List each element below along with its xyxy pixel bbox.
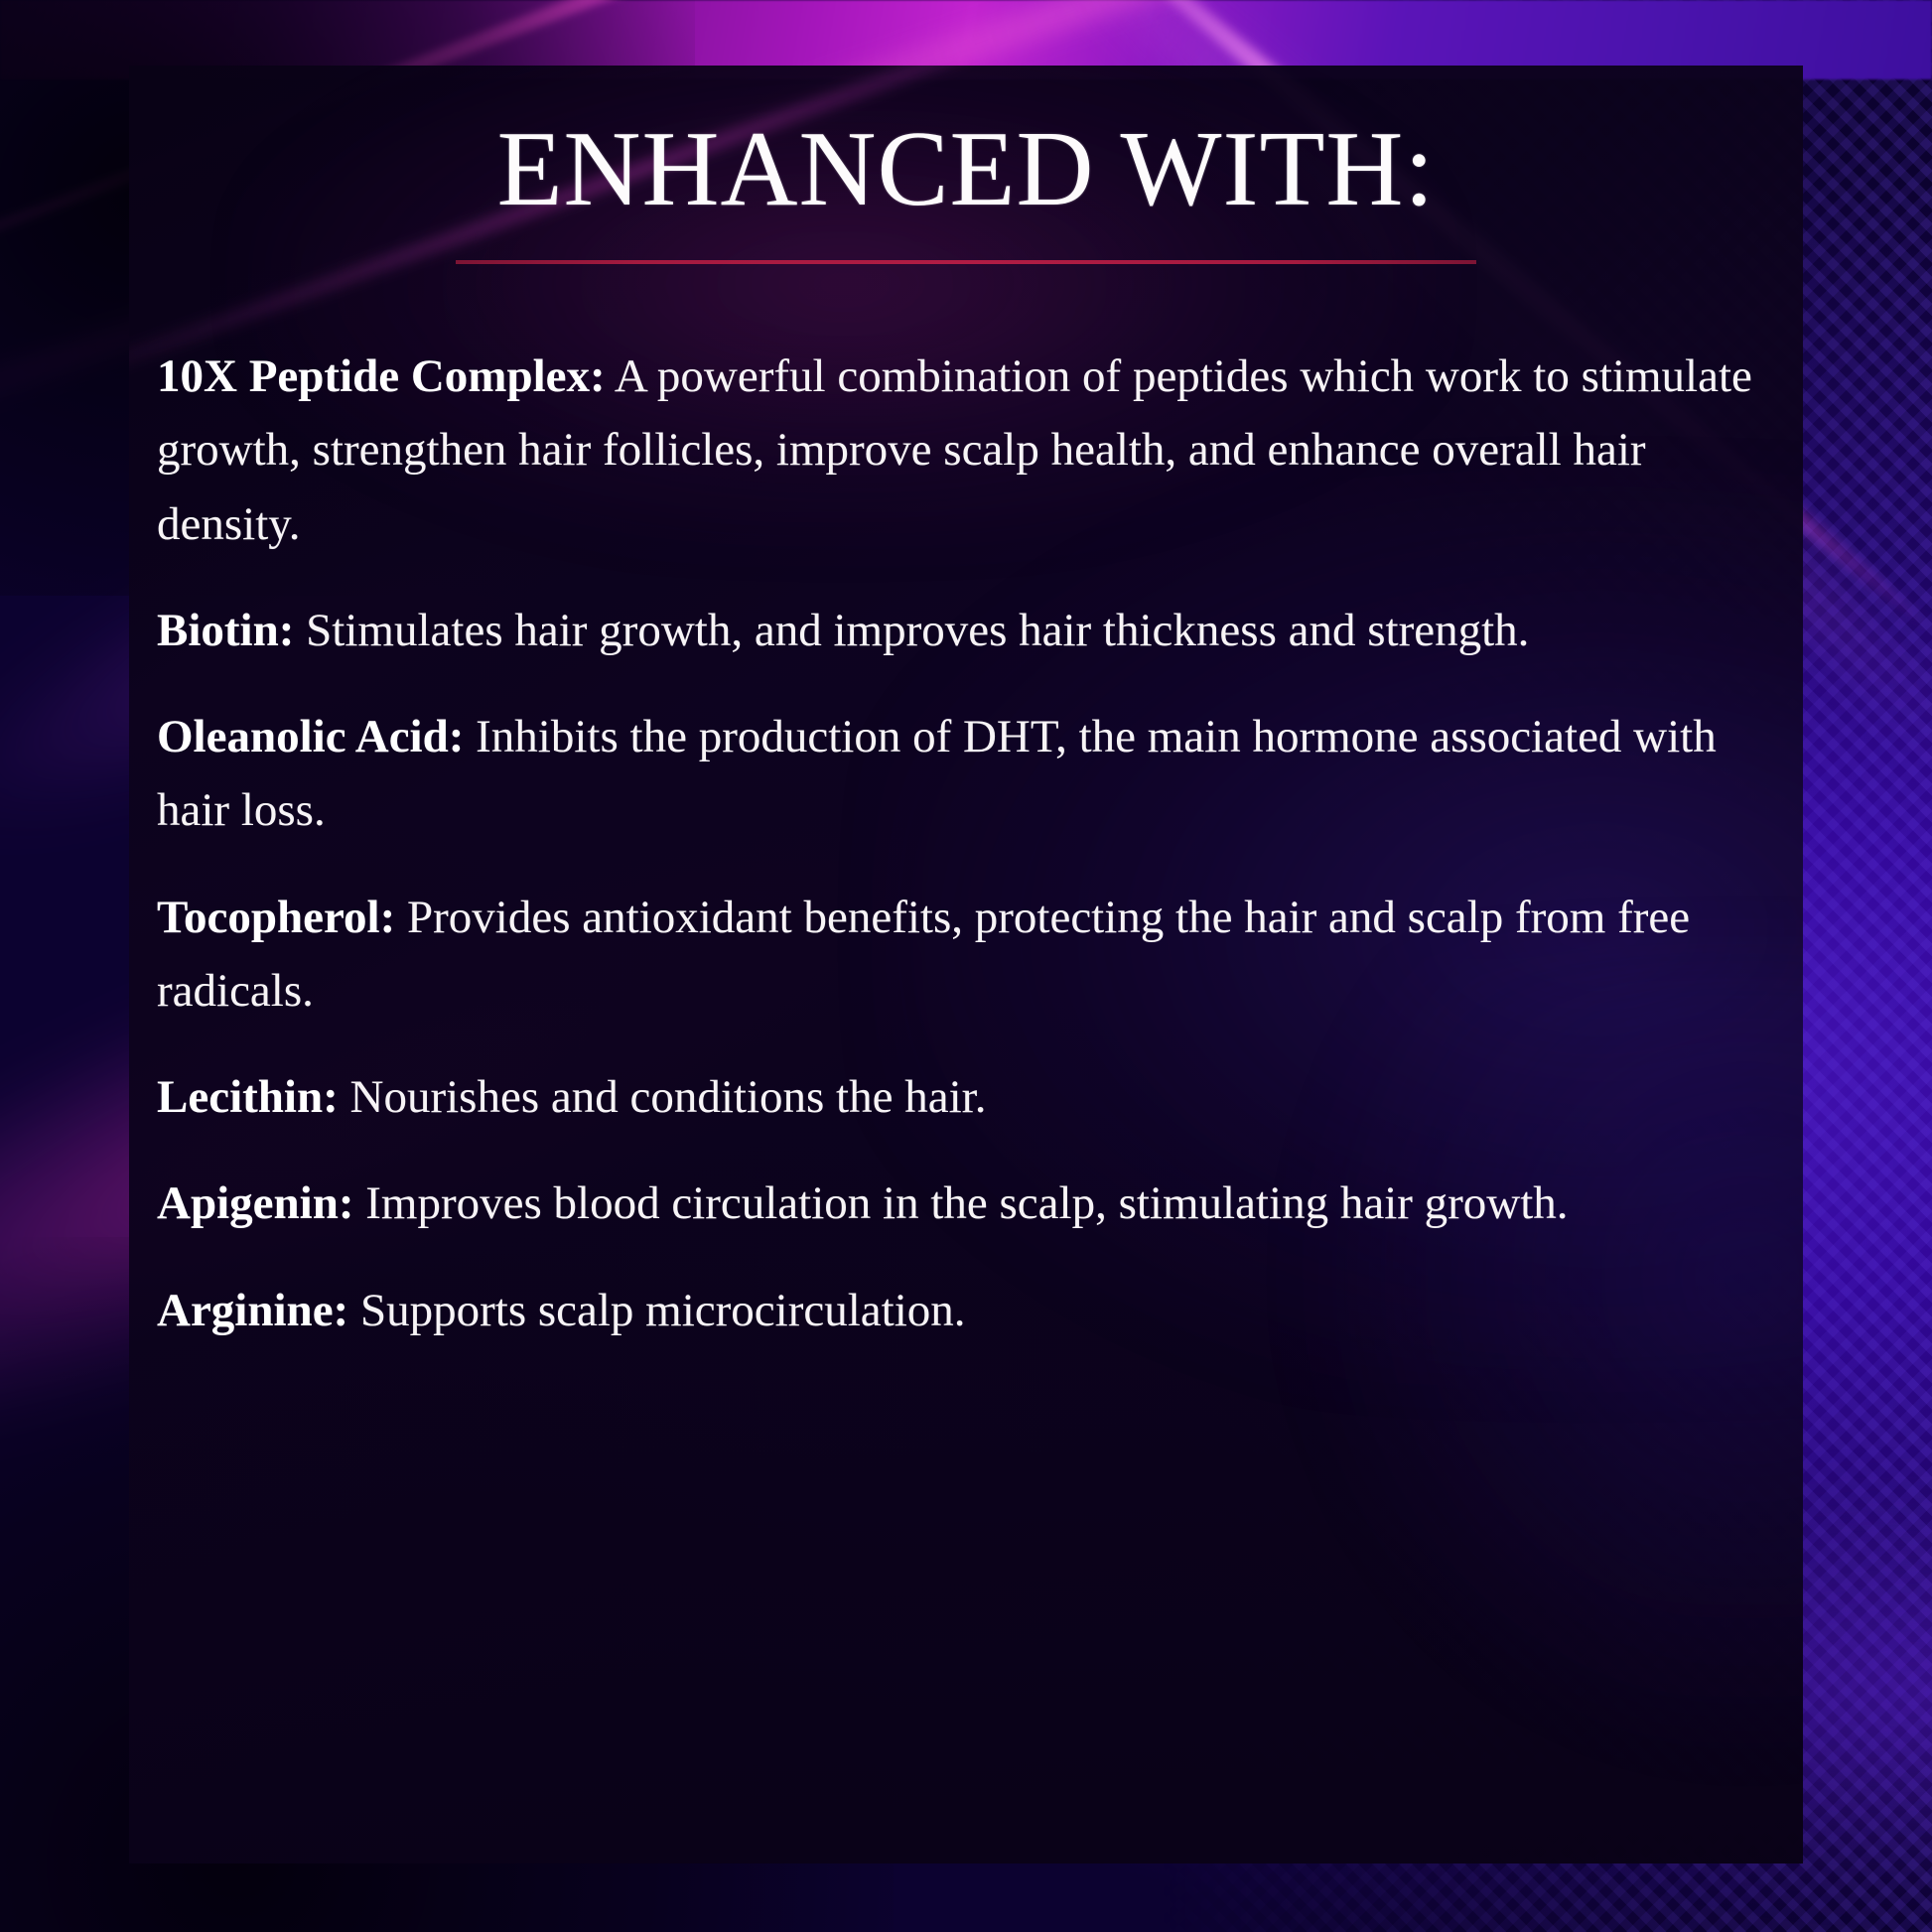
list-item: Arginine: Supports scalp microcirculatio… [157,1274,1753,1347]
ingredient-description: Stimulates hair growth, and improves hai… [294,605,1529,656]
ingredient-name: 10X Peptide Complex: [157,350,606,402]
promo-graphic-canvas: ENHANCED WITH: 10X Peptide Complex: A po… [0,0,1932,1932]
content-panel: ENHANCED WITH: 10X Peptide Complex: A po… [129,66,1803,1863]
title-block: ENHANCED WITH: [129,113,1803,264]
ingredient-name: Apigenin: [157,1177,354,1229]
list-item: Lecithin: Nourishes and conditions the h… [157,1060,1753,1134]
list-item: Oleanolic Acid: Inhibits the production … [157,700,1753,848]
ingredient-name: Arginine: [157,1285,348,1336]
ingredient-description: Improves blood circulation in the scalp,… [354,1177,1569,1229]
ingredient-name: Tocopherol: [157,892,395,943]
title-divider [456,260,1476,264]
list-item: Tocopherol: Provides antioxidant benefit… [157,881,1753,1029]
ingredient-description: Nourishes and conditions the hair. [339,1071,987,1123]
ingredient-name: Lecithin: [157,1071,339,1123]
ingredient-name: Biotin: [157,605,294,656]
ingredient-list: 10X Peptide Complex: A powerful combinat… [157,340,1753,1347]
list-item: Apigenin: Improves blood circulation in … [157,1167,1753,1240]
ingredient-name: Oleanolic Acid: [157,711,464,762]
list-item: Biotin: Stimulates hair growth, and impr… [157,594,1753,667]
page-title: ENHANCED WITH: [129,113,1803,226]
list-item: 10X Peptide Complex: A powerful combinat… [157,340,1753,561]
ingredient-description: Supports scalp microcirculation. [348,1285,965,1336]
